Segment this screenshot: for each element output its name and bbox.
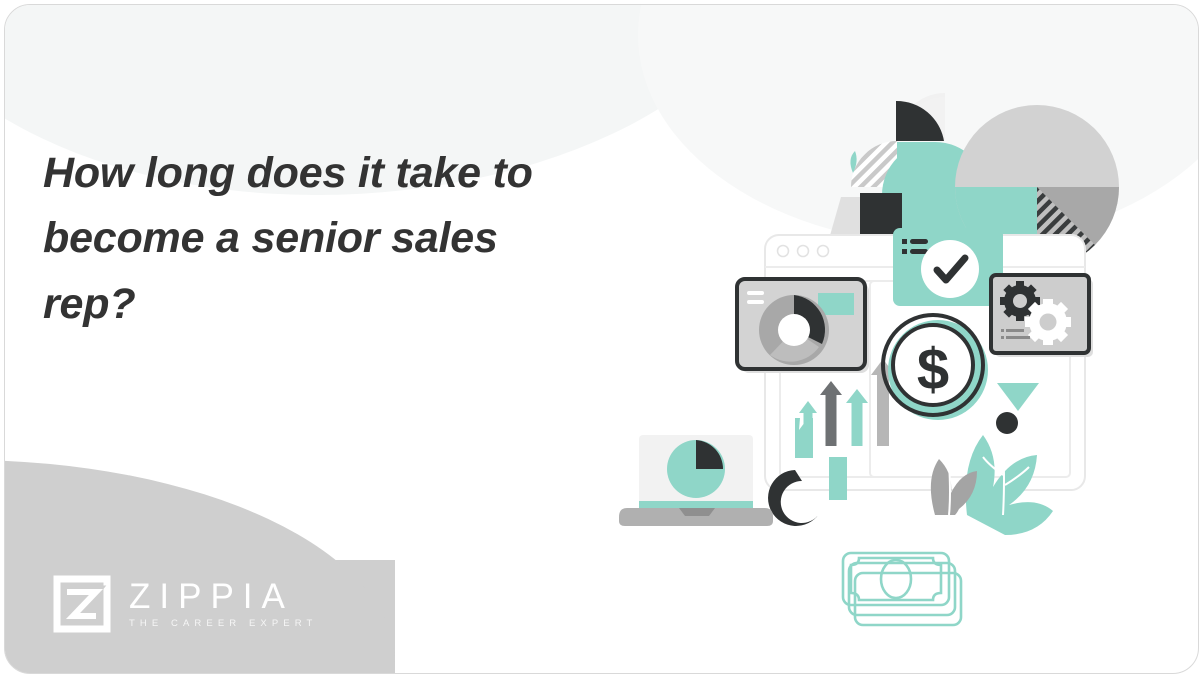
- bar-shape: [829, 457, 847, 500]
- business-analytics-illustration: $: [605, 45, 1185, 645]
- circle-dot-icon: [798, 246, 809, 257]
- svg-text:$: $: [917, 337, 949, 402]
- laptop-icon: [619, 435, 773, 526]
- gears-icon: [991, 275, 1093, 357]
- zippia-z-logo-icon: [53, 575, 111, 633]
- brand-name: ZIPPIA: [129, 579, 317, 614]
- circle-dot-icon: [818, 246, 829, 257]
- poster-card: How long does it take to become a senior…: [4, 4, 1199, 674]
- brand-logo: ZIPPIA THE CAREER EXPERT: [53, 575, 317, 633]
- banknote-icon: [843, 553, 961, 625]
- brand-blob: [4, 460, 395, 674]
- poster-canvas: How long does it take to become a senior…: [0, 0, 1201, 676]
- brand-wordmark: ZIPPIA THE CAREER EXPERT: [129, 579, 317, 629]
- circle-dot-icon: [778, 246, 789, 257]
- brand-tagline: THE CAREER EXPERT: [129, 619, 317, 629]
- dot-icon: [996, 412, 1018, 434]
- check-circle-icon: [893, 228, 1003, 306]
- page-title: How long does it take to become a senior…: [43, 141, 563, 337]
- donut-chart-icon: [737, 279, 869, 373]
